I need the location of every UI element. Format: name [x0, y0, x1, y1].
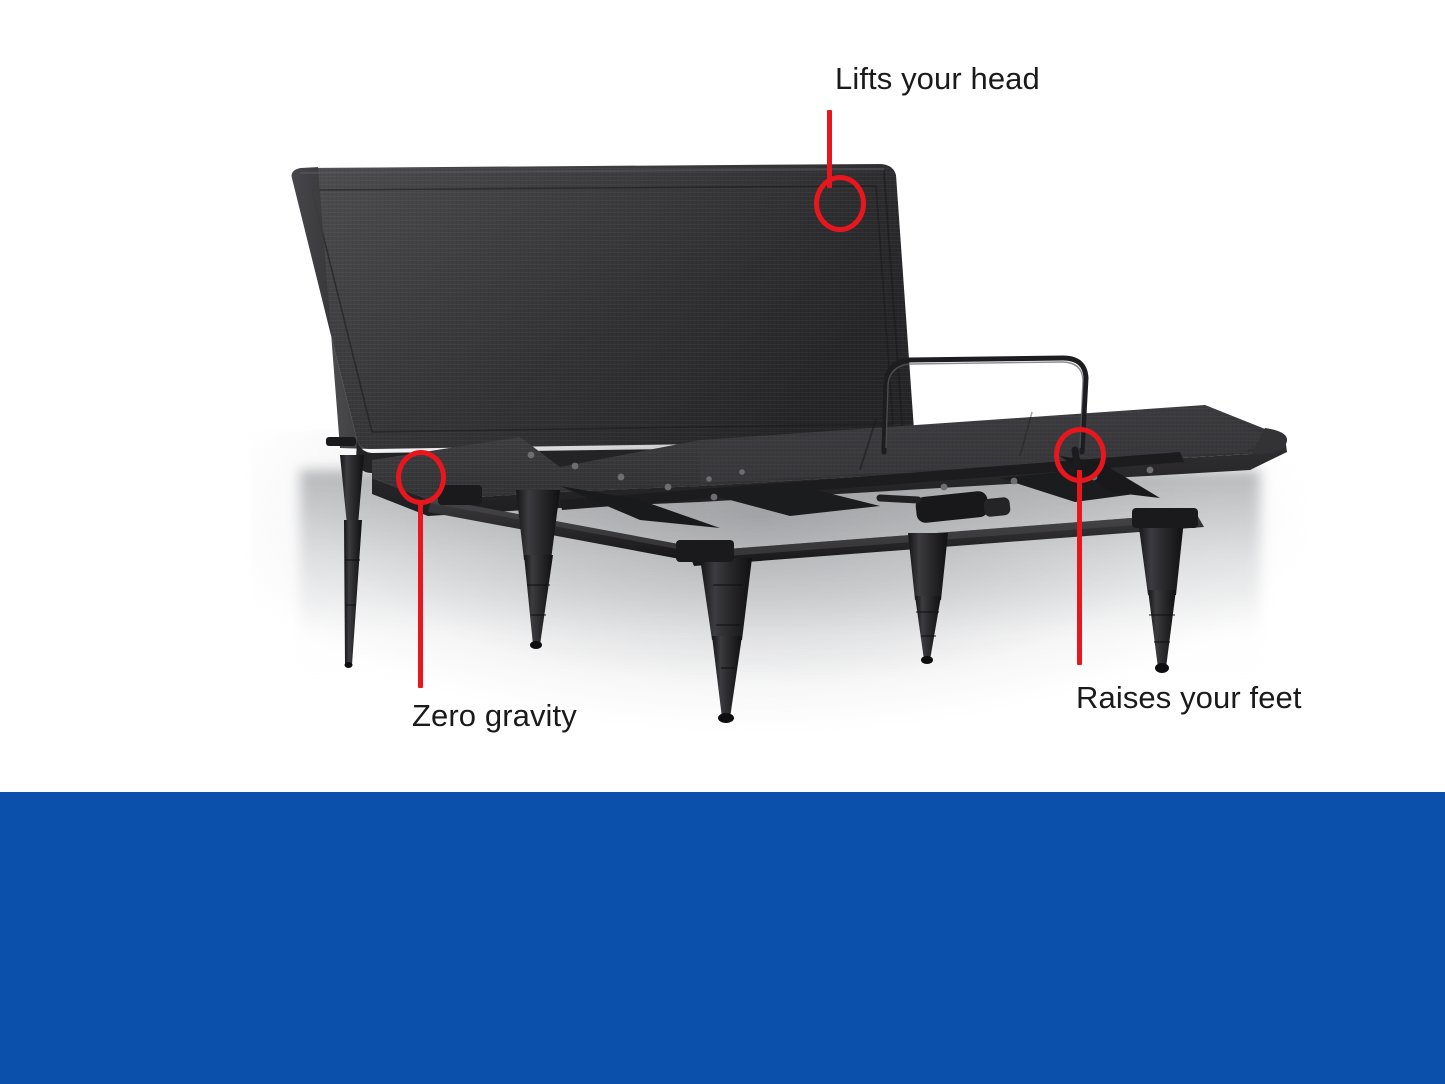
- callout-label-lifts-head: Lifts your head: [835, 63, 1040, 94]
- callout-ring-lifts-head: [814, 175, 866, 232]
- adjustable-bed-base-illustration: [0, 0, 1445, 792]
- callout-label-raises-feet: Raises your feet: [1076, 682, 1302, 713]
- callout-leader-line-zero-gravity: [418, 500, 423, 688]
- promo-graphic: Lifts your head Zero gravity Raises your…: [0, 0, 1445, 1084]
- promo-banner: COMPLETE YOUR SLEEP SYSTEM WITH A POWER …: [0, 792, 1445, 1084]
- callout-ring-zero-gravity: [396, 450, 446, 505]
- product-photo: Lifts your head Zero gravity Raises your…: [0, 0, 1445, 792]
- callout-leader-line-raises-feet: [1077, 470, 1082, 665]
- callout-label-zero-gravity: Zero gravity: [412, 700, 577, 731]
